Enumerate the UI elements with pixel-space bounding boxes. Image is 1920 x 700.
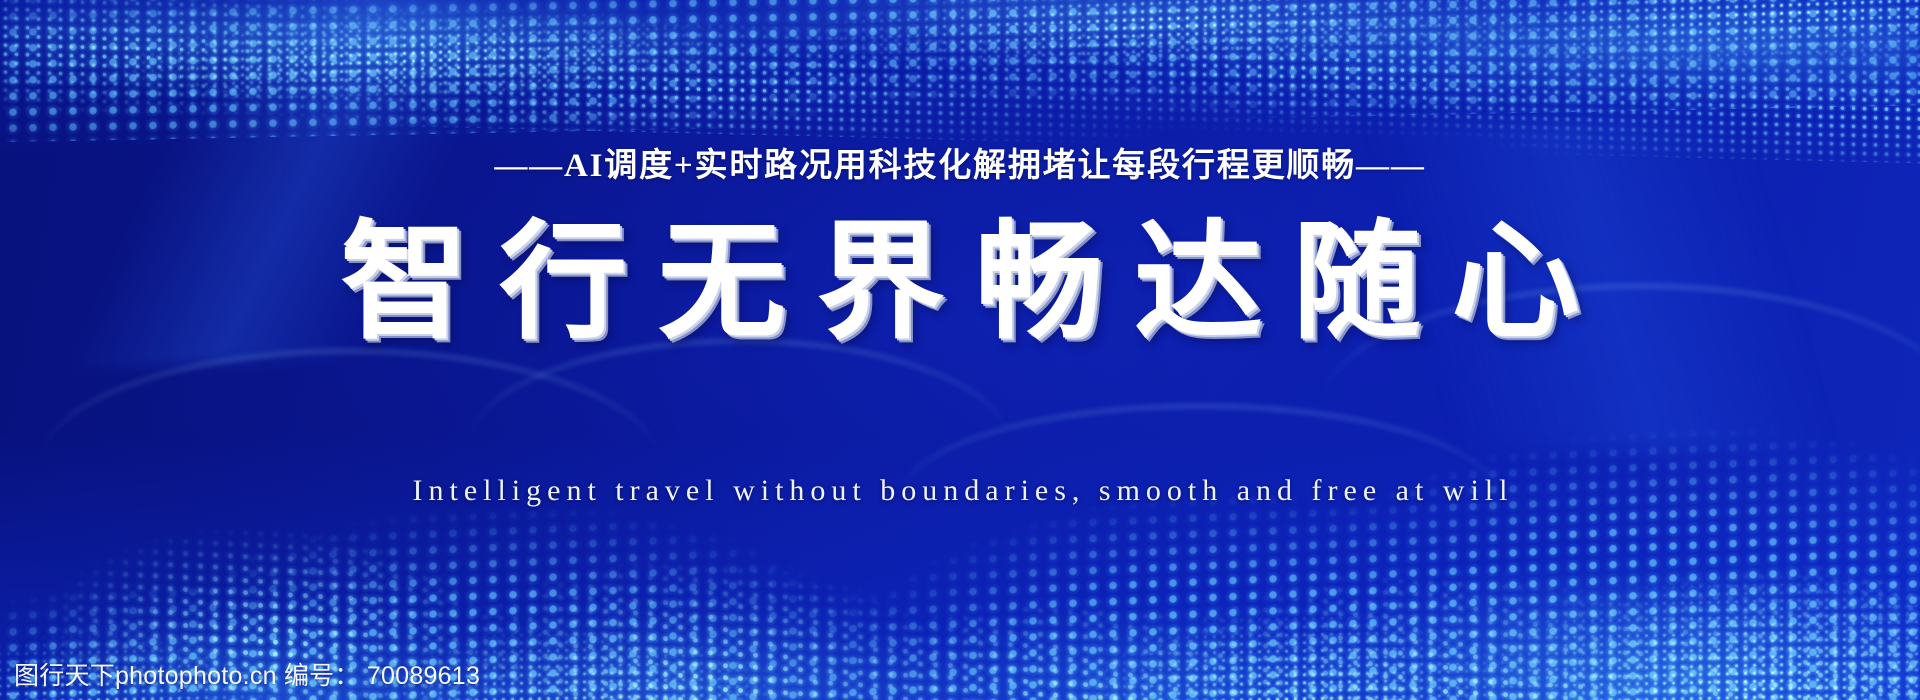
- banner-content: ——AI调度+实时路况用科技化解拥堵让每段行程更顺畅—— 智行无界畅达随心 In…: [0, 0, 1920, 700]
- chinese-subtitle: ——AI调度+实时路况用科技化解拥堵让每段行程更顺畅——: [494, 150, 1425, 183]
- stock-photo-watermark: 图行天下photophoto.cn 编号： 70089613: [14, 656, 480, 692]
- headline-title: 智行无界畅达随心: [310, 211, 1610, 354]
- english-subtitle: Intelligent travel without boundaries, s…: [407, 476, 1514, 506]
- promo-banner: ——AI调度+实时路况用科技化解拥堵让每段行程更顺畅—— 智行无界畅达随心 In…: [0, 0, 1920, 700]
